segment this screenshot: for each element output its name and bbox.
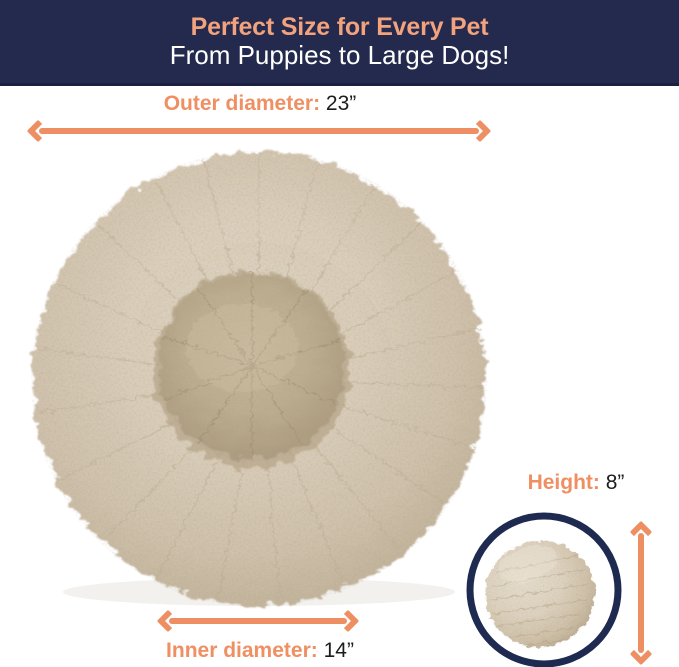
inner-diameter-value: 14” <box>324 639 354 662</box>
outer-diameter-value: 23” <box>326 92 356 115</box>
arrow-down-head-icon <box>630 643 653 666</box>
height-arrow <box>628 524 654 662</box>
inner-diameter-arrow <box>160 608 356 634</box>
header-subtitle: From Puppies to Large Dogs! <box>170 42 510 69</box>
arrow-shaft <box>638 533 644 653</box>
bed-center-sheen <box>186 304 298 392</box>
arrow-right-head-icon <box>337 610 360 633</box>
inner-diameter-label: Inner diameter: 14” <box>0 640 520 661</box>
inset-side-view-illustration <box>466 512 622 667</box>
height-value: 8” <box>606 471 625 494</box>
height-label: Height: 8” <box>476 472 676 493</box>
outer-diameter-label-text: Outer diameter: <box>164 92 320 115</box>
arrow-shaft <box>169 618 347 624</box>
arrow-right-head-icon <box>469 120 492 143</box>
outer-diameter-label: Outer diameter: 23” <box>0 93 520 114</box>
pet-bed-size-infographic: Perfect Size for Every Pet From Puppies … <box>0 0 679 667</box>
arrow-shaft <box>39 128 479 134</box>
outer-diameter-arrow <box>30 118 488 144</box>
main-bed-illustration <box>28 148 490 610</box>
header-banner: Perfect Size for Every Pet From Puppies … <box>0 0 679 86</box>
header-title: Perfect Size for Every Pet <box>191 14 489 40</box>
inner-diameter-label-text: Inner diameter: <box>166 639 318 662</box>
height-label-text: Height: <box>528 471 600 494</box>
